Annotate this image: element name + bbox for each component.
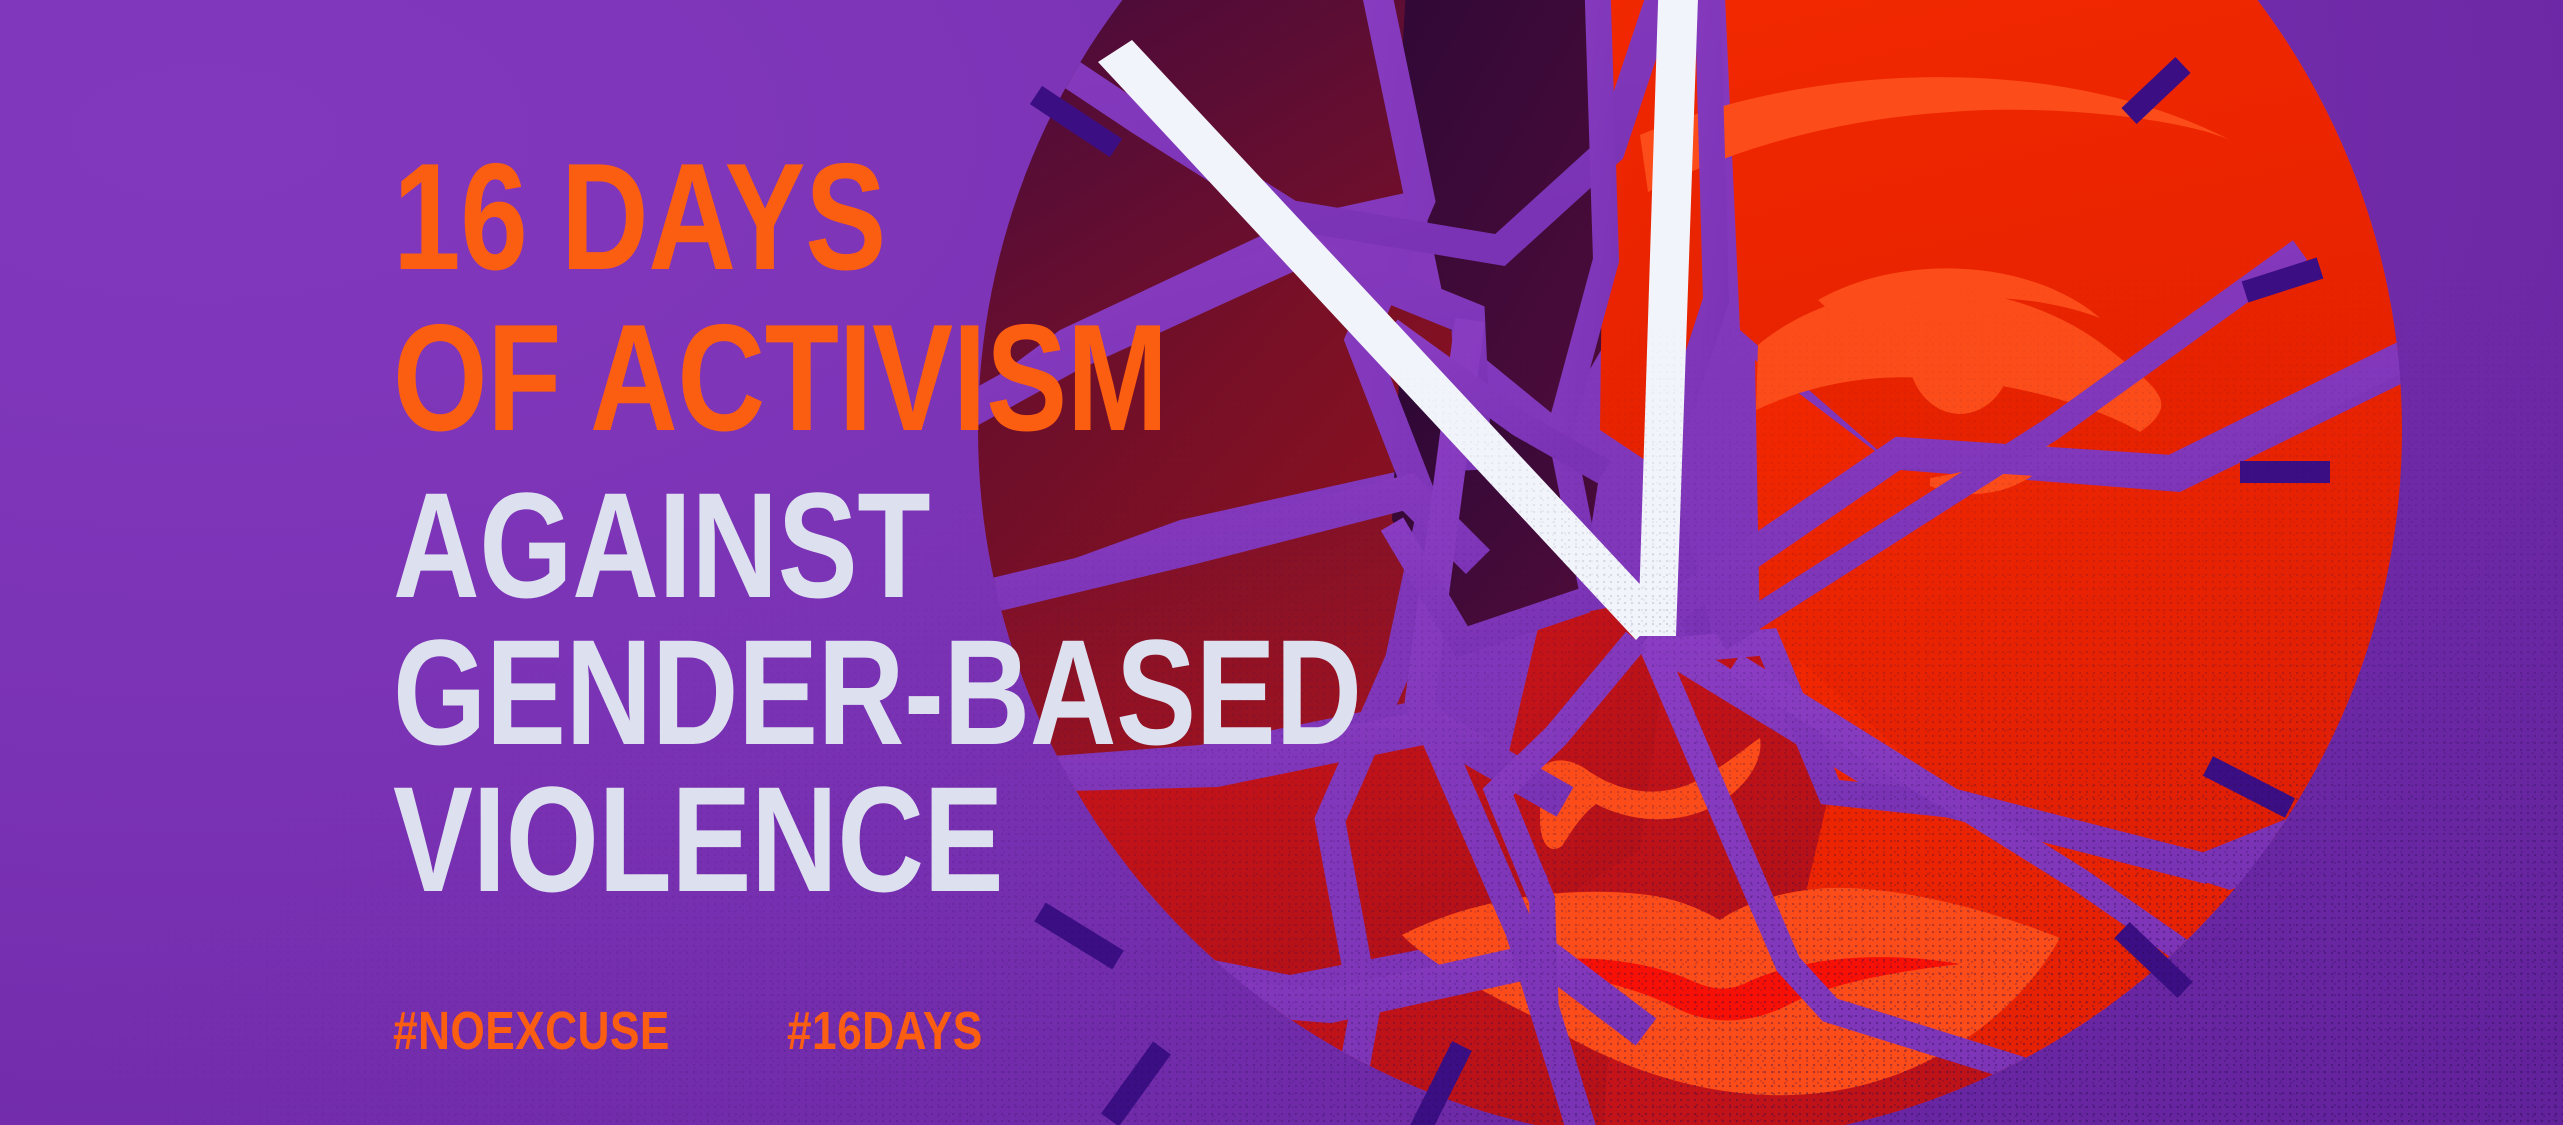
hashtag-row: #NOEXCUSE #16DAYS <box>393 1000 1025 1062</box>
headline-line-violence: VIOLENCE <box>393 773 1177 906</box>
headline-line-of-activism: OF ACTIVISM <box>393 311 1177 446</box>
headline-line-against: AGAINST <box>393 479 1177 612</box>
headline-line-gender-based: GENDER-BASED <box>393 626 1177 759</box>
tick-9 <box>1040 912 1118 960</box>
headline-block: 16 DAYS OF ACTIVISM AGAINST GENDER-BASED… <box>393 150 1373 905</box>
headline-line-16-days: 16 DAYS <box>393 150 1177 285</box>
campaign-banner: 16 DAYS OF ACTIVISM AGAINST GENDER-BASED… <box>0 0 2563 1125</box>
tick-8 <box>1110 1048 1162 1120</box>
pupil <box>1908 290 2012 414</box>
hashtag-noexcuse[interactable]: #NOEXCUSE <box>393 1000 670 1062</box>
hashtag-16days[interactable]: #16DAYS <box>787 1000 983 1062</box>
